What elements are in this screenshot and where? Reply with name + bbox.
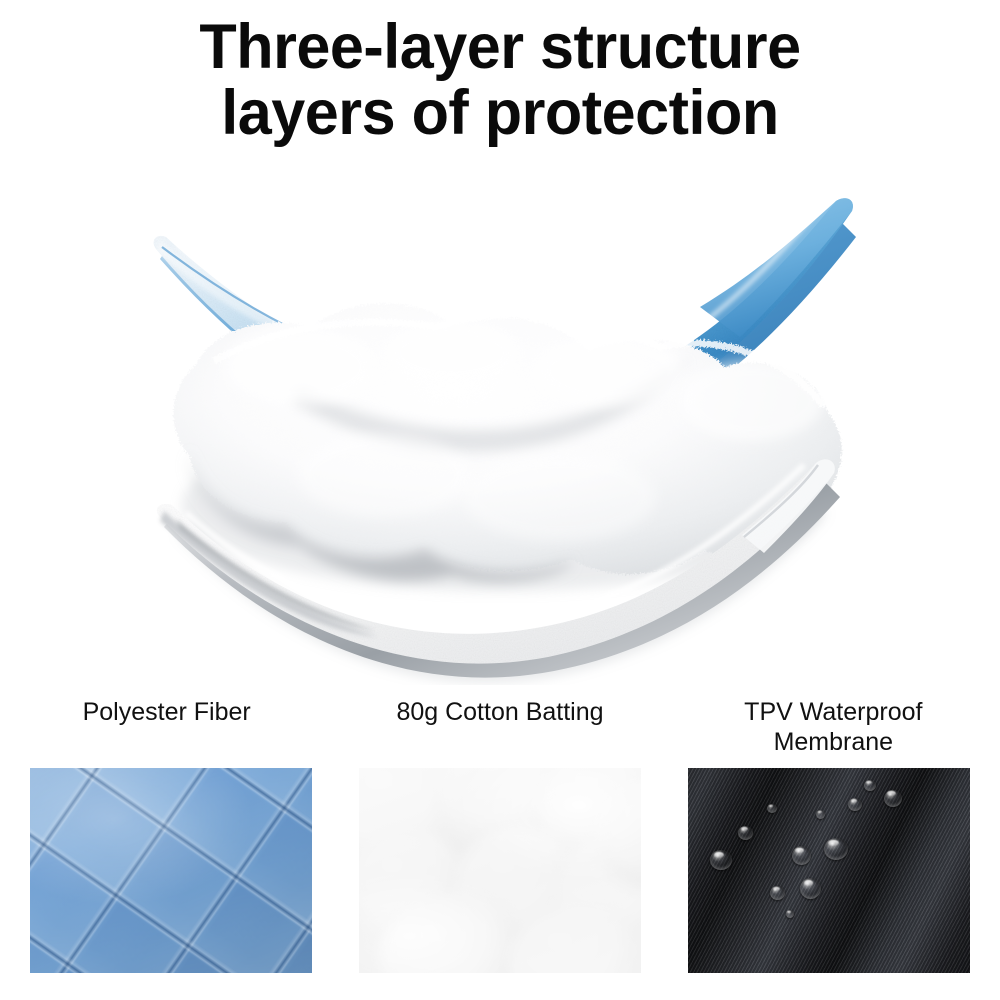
caption-tpv-membrane: TPV Waterproof Membrane [667, 697, 1000, 757]
swatch-row [0, 768, 1000, 973]
caption-polyester-line-1: Polyester Fiber [6, 697, 327, 727]
swatch-captions: Polyester Fiber 80g Cotton Batting TPV W… [0, 697, 1000, 757]
caption-cotton-batting: 80g Cotton Batting [333, 697, 666, 757]
exploded-layer-illustration [0, 175, 1000, 685]
caption-cotton-line-1: 80g Cotton Batting [339, 697, 660, 727]
cotton-batting-swatch [359, 768, 641, 973]
water-droplet-icon [786, 910, 794, 918]
page-title: Three-layer structure layers of protecti… [0, 14, 1000, 146]
water-droplet-icon [770, 886, 785, 900]
infographic-page: Three-layer structure layers of protecti… [0, 0, 1000, 1000]
water-droplet-icon [800, 878, 821, 899]
caption-membrane-line-2: Membrane [673, 727, 994, 757]
water-droplet-group [688, 768, 970, 973]
tpv-membrane-swatch [688, 768, 970, 973]
batting-soft-wash [359, 768, 641, 973]
water-droplet-icon [710, 850, 732, 870]
title-line-1: Three-layer structure [15, 14, 985, 80]
caption-polyester-fiber: Polyester Fiber [0, 697, 333, 757]
quilt-sheen [30, 768, 312, 973]
water-droplet-icon [792, 846, 811, 865]
water-droplet-icon [767, 804, 777, 813]
water-droplet-icon [848, 798, 862, 811]
caption-membrane-line-1: TPV Waterproof [673, 697, 994, 727]
polyester-fiber-swatch [30, 768, 312, 973]
water-droplet-icon [864, 780, 876, 791]
water-droplet-icon [824, 838, 848, 860]
water-droplet-icon [884, 790, 902, 807]
water-droplet-icon [738, 826, 753, 840]
title-line-2: layers of protection [15, 80, 985, 146]
water-droplet-icon [816, 810, 825, 819]
